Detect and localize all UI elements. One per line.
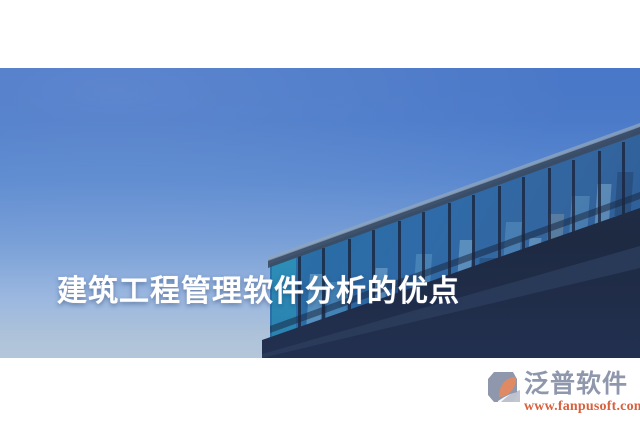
page-title: 建筑工程管理软件分析的优点 bbox=[57, 266, 460, 310]
banner-photo: 建筑工程管理软件分析的优点 bbox=[0, 68, 640, 358]
brand-website: www.fanpusoft.com bbox=[524, 399, 640, 415]
building-illustration bbox=[262, 68, 640, 358]
brand-name: 泛普软件 bbox=[524, 371, 640, 398]
logo-text-block: 泛普软件 www.fanpusoft.com bbox=[524, 371, 640, 415]
image-canvas: 建筑工程管理软件分析的优点 泛普软件 www.fanpusoft.com bbox=[0, 0, 640, 427]
fanpu-hexagon-logo-icon bbox=[487, 371, 521, 403]
brand-logo[interactable]: 泛普软件 www.fanpusoft.com bbox=[487, 371, 640, 415]
